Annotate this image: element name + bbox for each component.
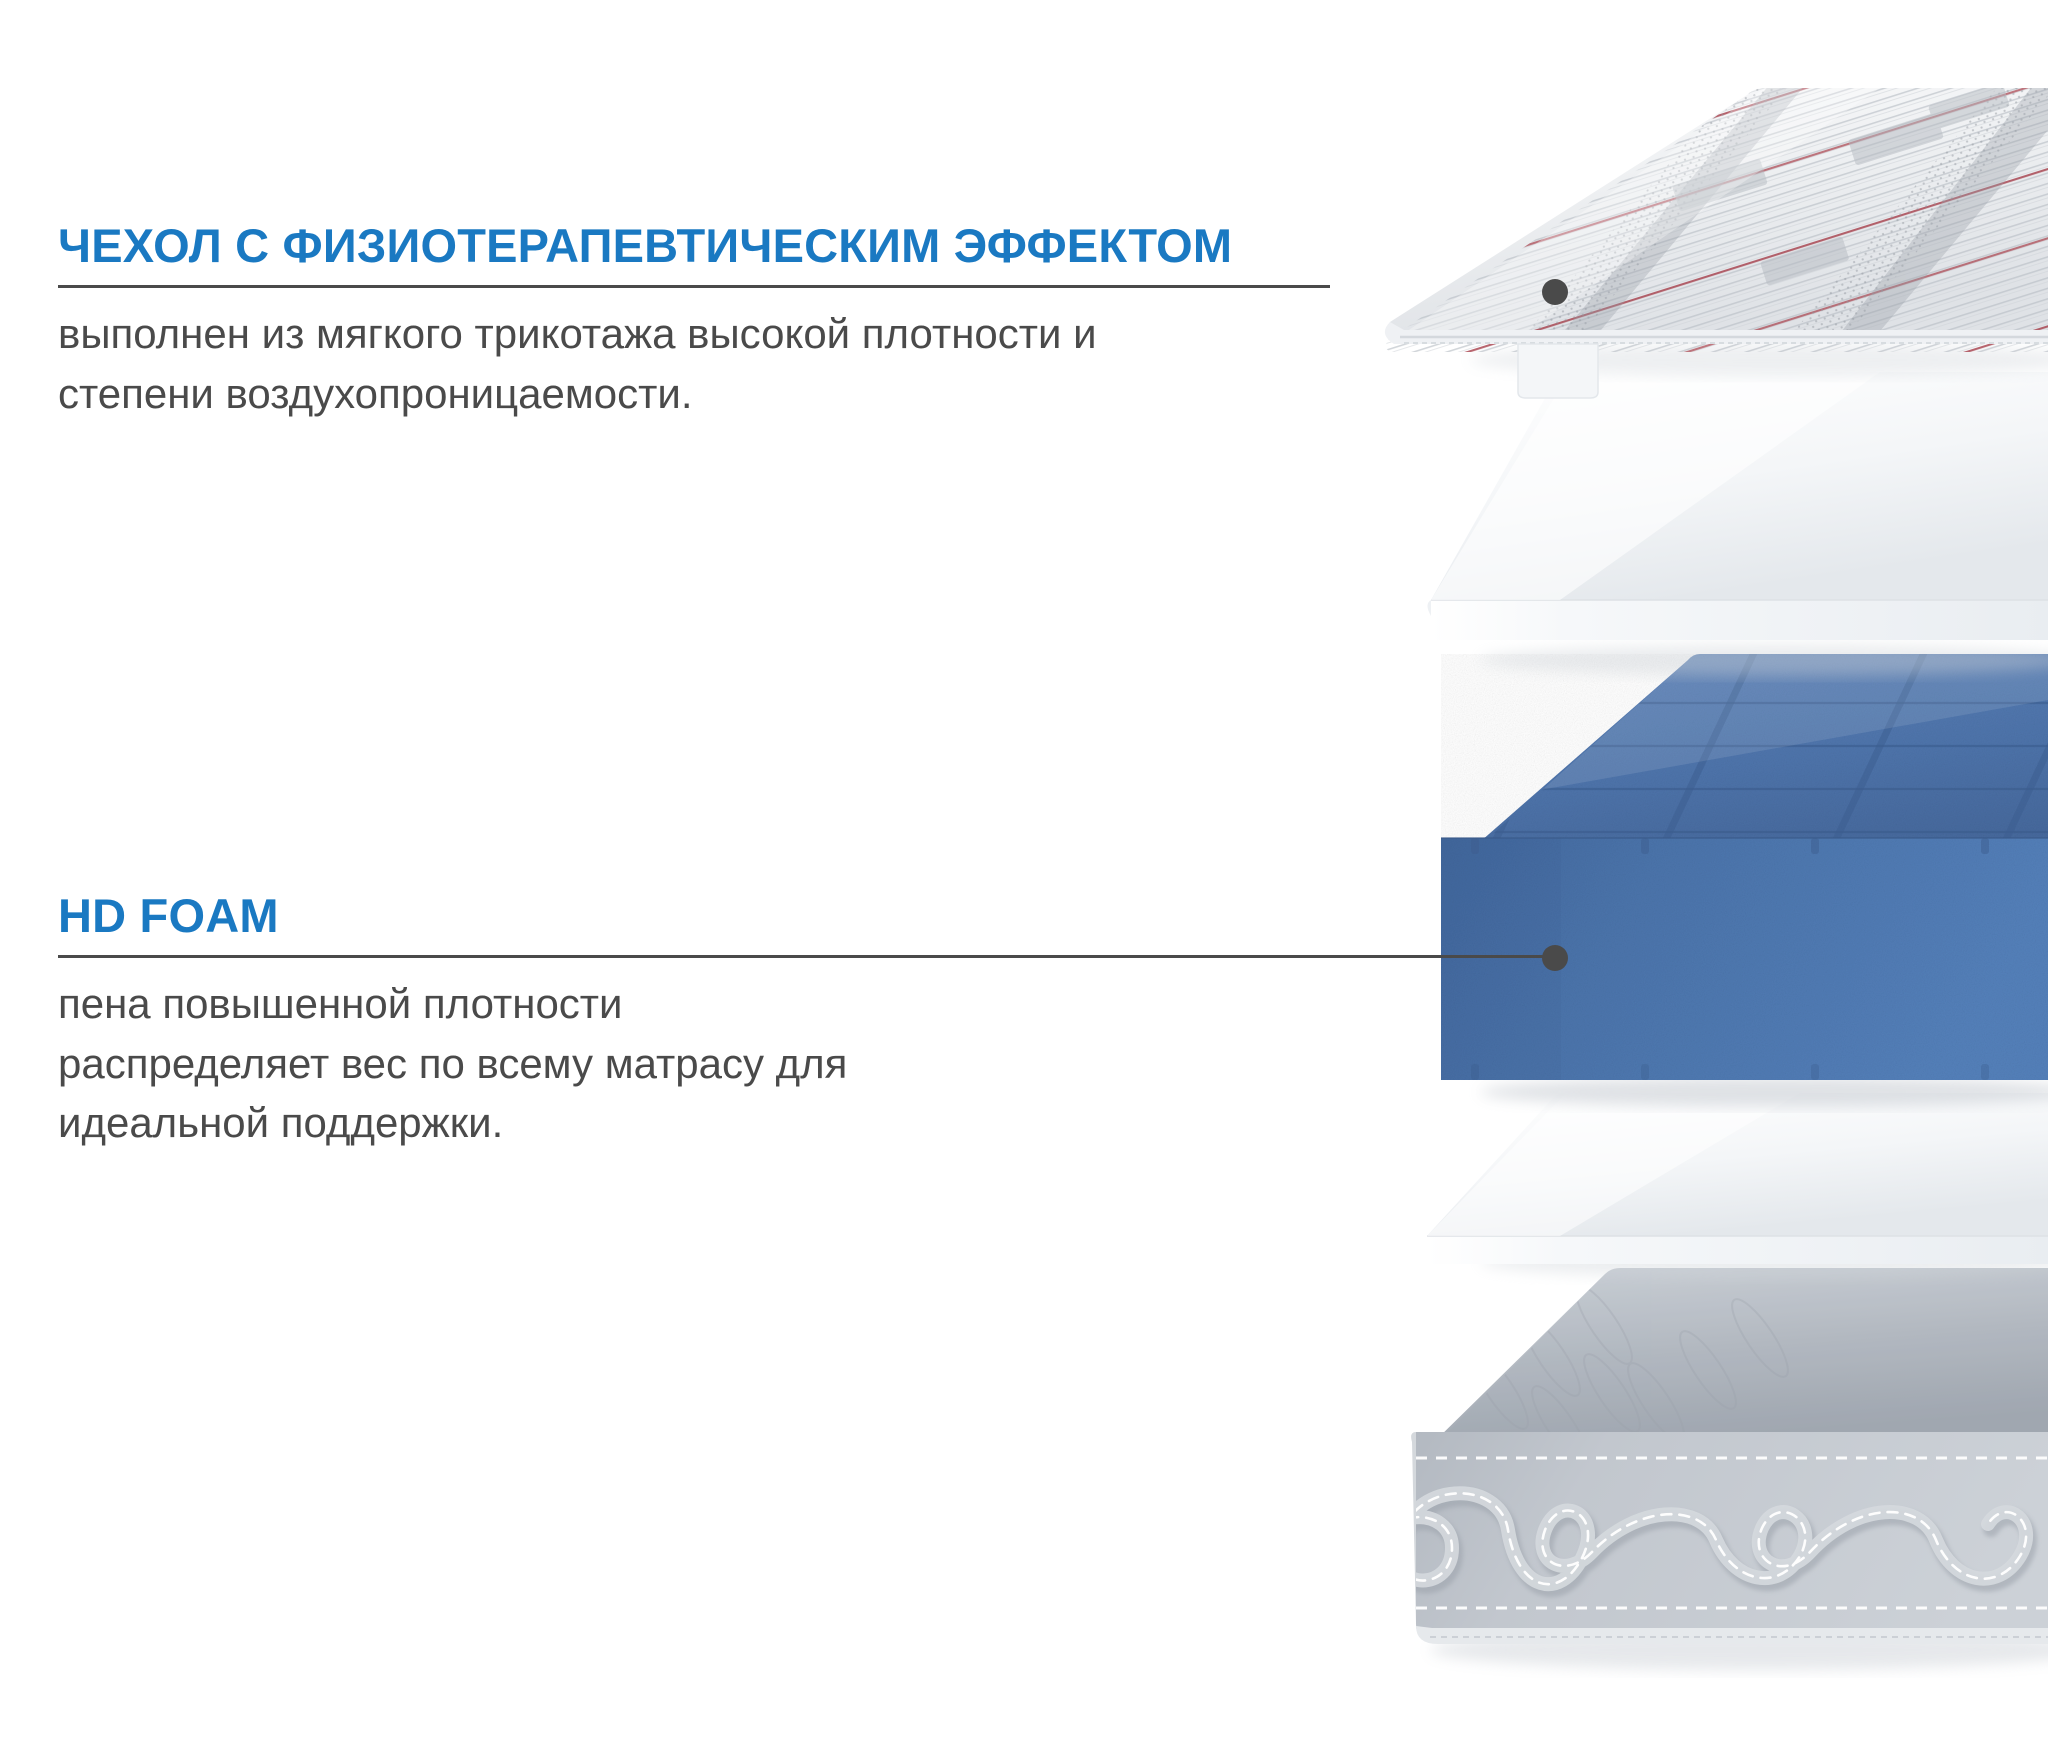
callout-hd-foam-rule — [58, 955, 1550, 958]
callout-hd-foam-title: HD FOAM — [58, 892, 1550, 939]
layer-cover — [1340, 60, 2048, 398]
layer-base-quilted — [1380, 1268, 2048, 1670]
callout-cover-body: выполнен из мягкого трикотажа высокой пл… — [58, 304, 1208, 423]
callout-hd-foam: HD FOAM пена повышенной плотности распре… — [58, 892, 1550, 1153]
callout-cover-rule — [58, 285, 1330, 288]
callout-hd-foam-body: пена повышенной плотности распределяет в… — [58, 974, 858, 1153]
callout-cover: ЧЕХОЛ С ФИЗИОТЕРАПЕВТИЧЕСКИМ ЭФФЕКТОМ вы… — [58, 222, 1330, 423]
layer-white-foam-upper — [1428, 372, 2048, 676]
leader-dot-cover — [1542, 279, 1568, 305]
leader-dot-hd-foam — [1542, 945, 1568, 971]
callout-cover-title: ЧЕХОЛ С ФИЗИОТЕРАПЕВТИЧЕСКИМ ЭФФЕКТОМ — [58, 222, 1330, 269]
